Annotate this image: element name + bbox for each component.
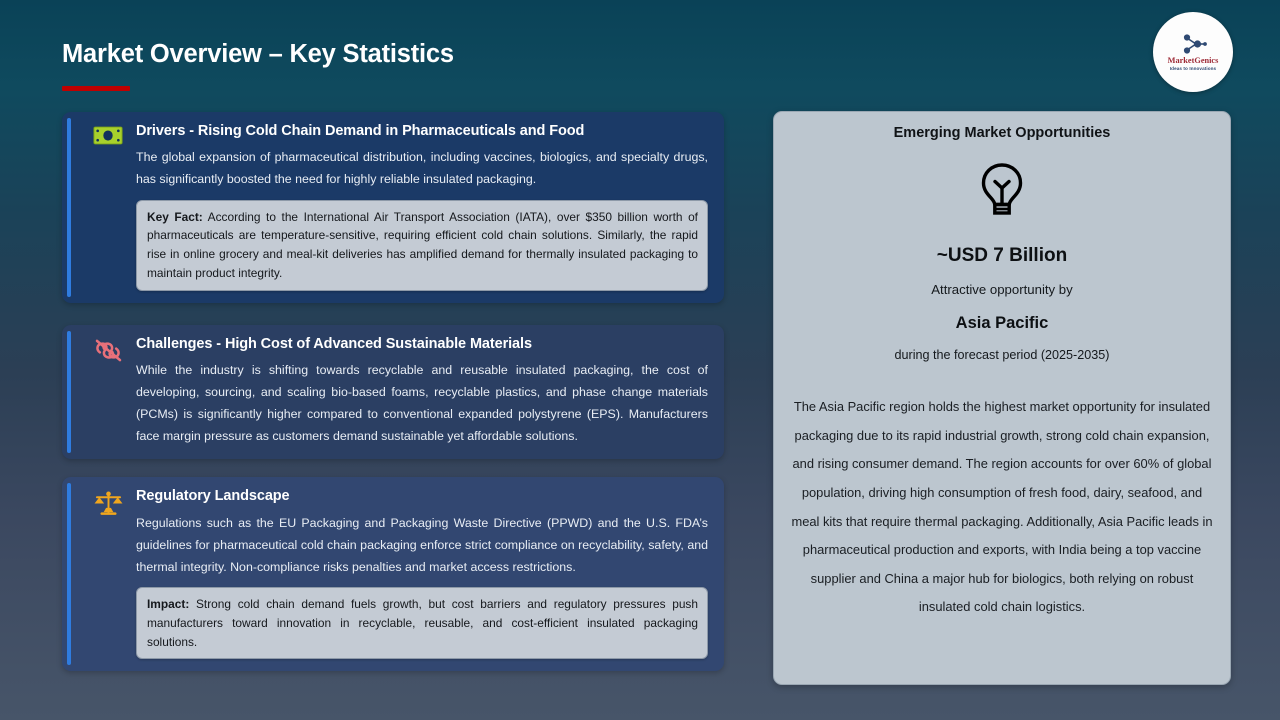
impact-label: Impact: <box>147 597 189 611</box>
slide-root: Market Overview – Key Statistics MarketG… <box>0 0 1280 720</box>
emerging-opportunities-panel: Emerging Market Opportunities ~USD 7 Bil… <box>773 111 1231 685</box>
page-title: Market Overview – Key Statistics <box>62 40 454 69</box>
panel-paragraph: The Asia Pacific region holds the highes… <box>790 393 1214 622</box>
card-heading: Regulatory Landscape <box>136 488 708 505</box>
market-value: ~USD 7 Billion <box>790 245 1214 268</box>
panel-title: Emerging Market Opportunities <box>790 125 1214 142</box>
balance-scale-icon <box>92 490 124 520</box>
forecast-period: during the forecast period (2025-2035) <box>790 348 1214 363</box>
left-column: Drivers - Rising Cold Chain Demand in Ph… <box>62 112 724 671</box>
card-heading: Drivers - Rising Cold Chain Demand in Ph… <box>136 123 708 140</box>
region-name: Asia Pacific <box>790 314 1214 334</box>
card-regulatory[interactable]: Regulatory Landscape Regulations such as… <box>62 477 724 671</box>
lightbulb-icon <box>974 161 1030 219</box>
molecule-node-icon <box>1178 32 1208 56</box>
card-spacer <box>62 459 724 477</box>
impact-text: Strong cold chain demand fuels growth, b… <box>147 597 698 649</box>
card-drivers[interactable]: Drivers - Rising Cold Chain Demand in Ph… <box>62 112 724 303</box>
impact-callout: Impact: Strong cold chain demand fuels g… <box>136 587 708 659</box>
card-spacer <box>62 303 724 325</box>
card-body-text: The global expansion of pharmaceutical d… <box>136 146 708 190</box>
key-fact-label: Key Fact: <box>147 210 203 224</box>
logo-tagline: Ideas to Innovations <box>1170 67 1216 72</box>
brand-logo: MarketGenics Ideas to Innovations <box>1153 12 1233 92</box>
key-fact-text: According to the International Air Trans… <box>147 210 698 280</box>
money-banknote-icon <box>92 125 124 155</box>
logo-name: MarketGenics <box>1168 57 1219 65</box>
card-body-text: Regulations such as the EU Packaging and… <box>136 512 708 578</box>
card-challenges[interactable]: Challenges - High Cost of Advanced Susta… <box>62 325 724 460</box>
key-fact-callout: Key Fact: According to the International… <box>136 200 708 291</box>
title-underline-rule <box>62 86 130 91</box>
card-body-text: While the industry is shifting towards r… <box>136 359 708 447</box>
broken-link-icon <box>92 338 124 368</box>
card-heading: Challenges - High Cost of Advanced Susta… <box>136 336 708 353</box>
opportunity-subtitle: Attractive opportunity by <box>790 282 1214 298</box>
